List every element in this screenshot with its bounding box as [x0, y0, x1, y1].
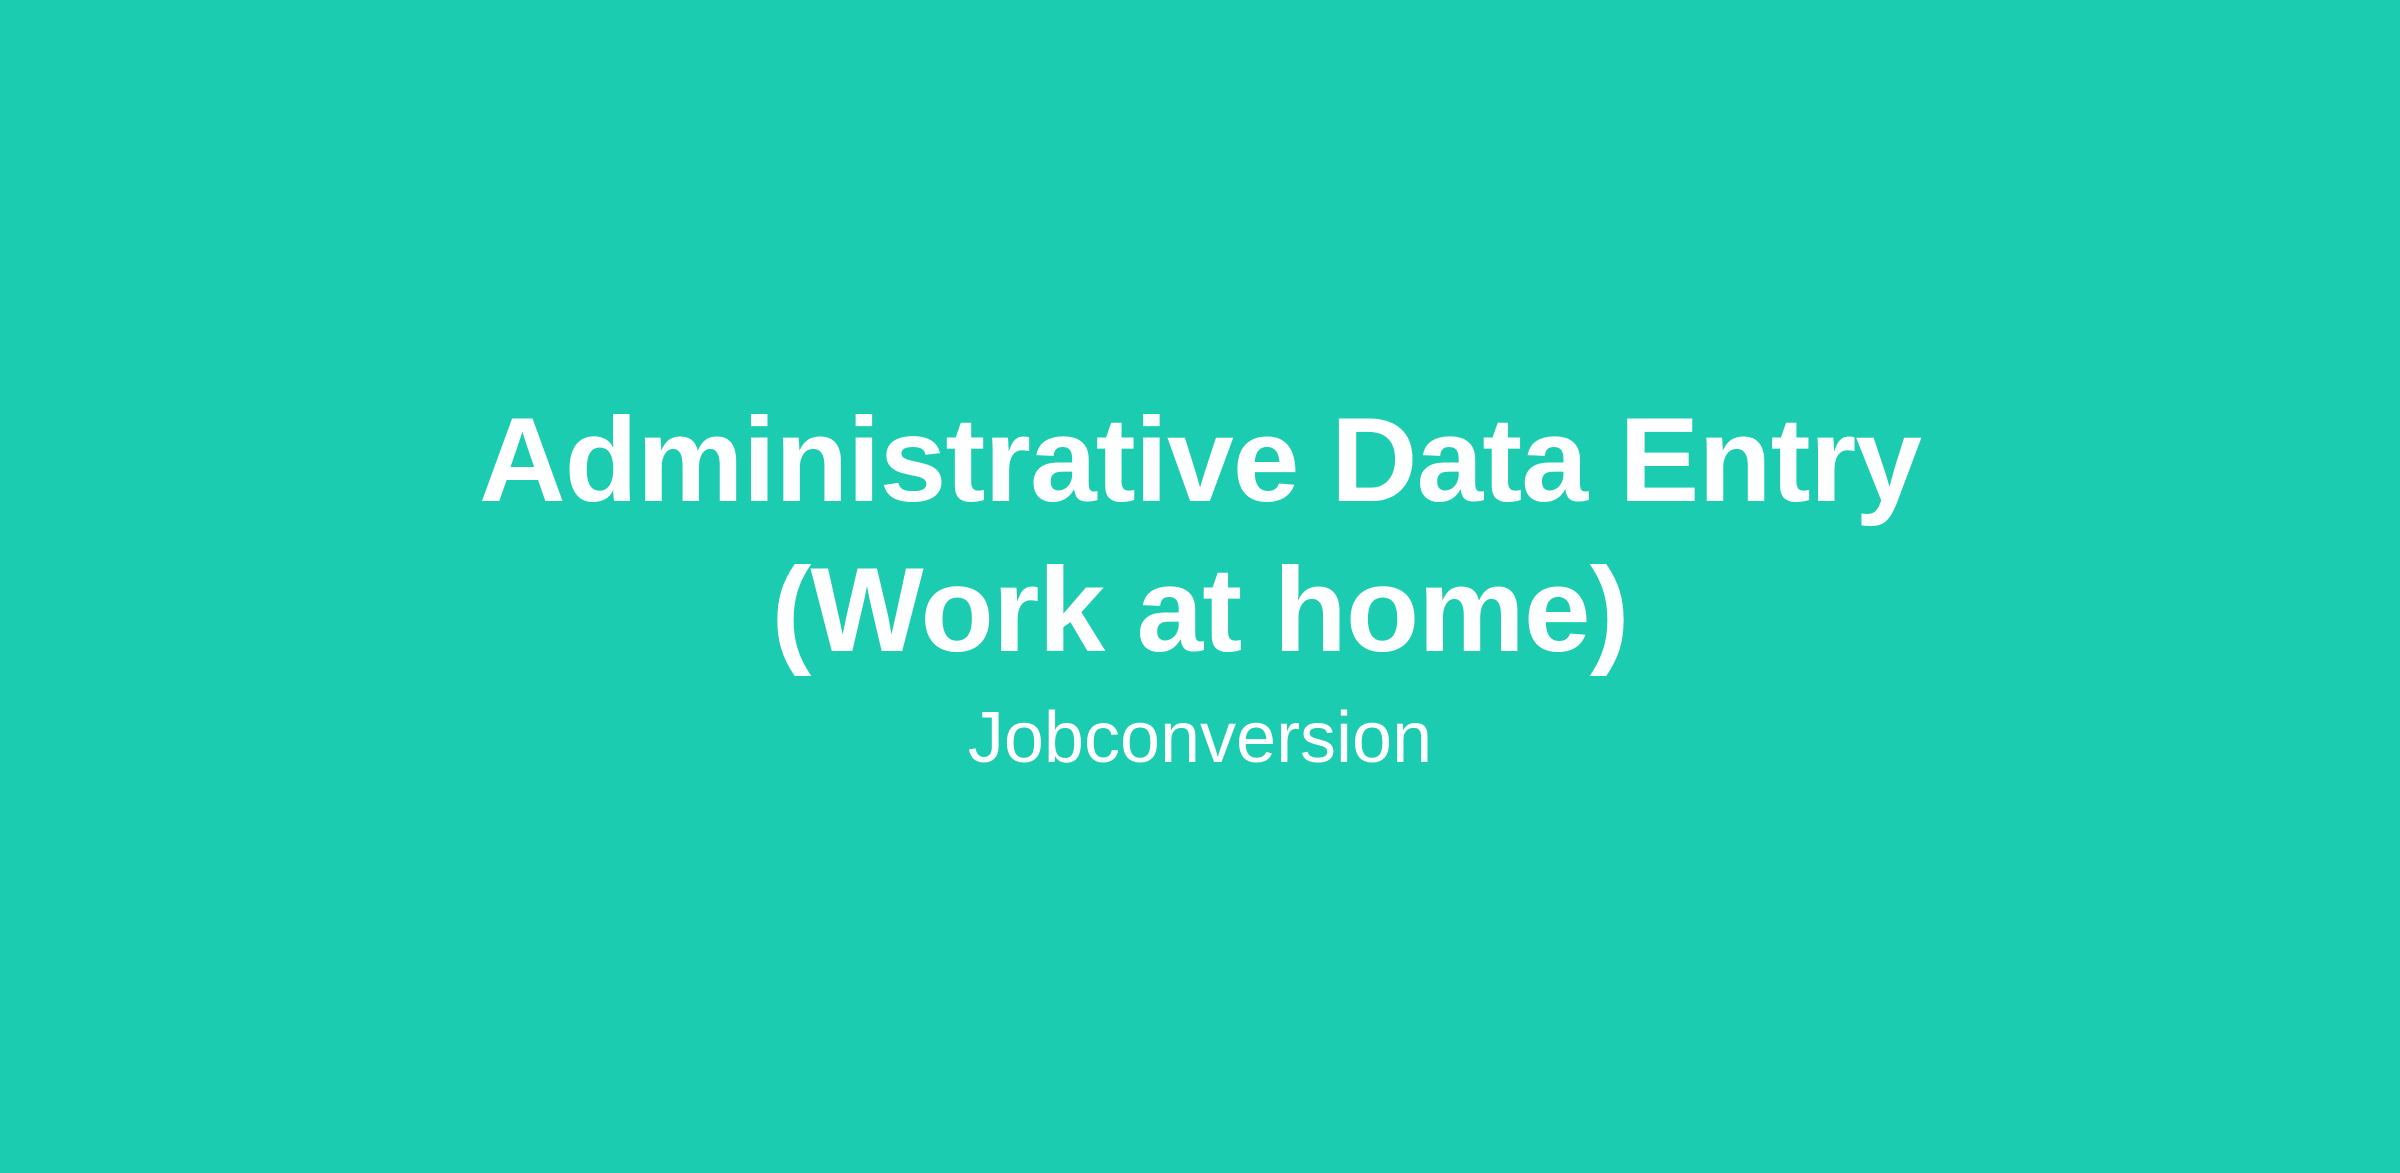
job-title-line-2: (Work at home)	[0, 535, 2400, 685]
page-title: Administrative Data Entry (Work at home)	[0, 385, 2400, 685]
job-subtitle: Jobconversion	[0, 695, 2400, 781]
job-card-content: Administrative Data Entry (Work at home)…	[0, 385, 2400, 781]
job-title-line-1: Administrative Data Entry	[0, 385, 2400, 535]
job-share-card: Administrative Data Entry (Work at home)…	[0, 0, 2400, 1173]
